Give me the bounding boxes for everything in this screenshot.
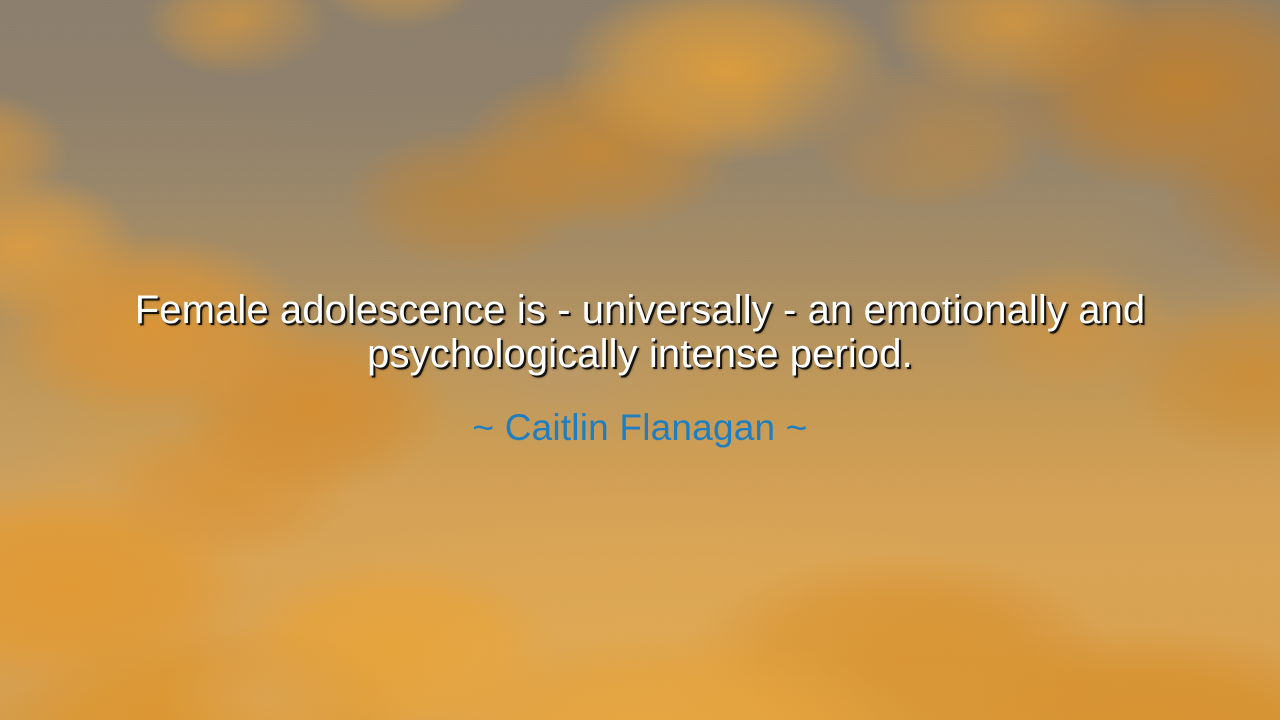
quote-container: Female adolescence is - universally - an… <box>0 288 1280 376</box>
quote-text: Female adolescence is - universally - an… <box>92 288 1188 376</box>
author-attribution: ~ Caitlin Flanagan ~ <box>0 406 1280 450</box>
author-container: ~ Caitlin Flanagan ~ <box>0 406 1280 450</box>
quote-image-canvas: Female adolescence is - universally - an… <box>0 0 1280 720</box>
